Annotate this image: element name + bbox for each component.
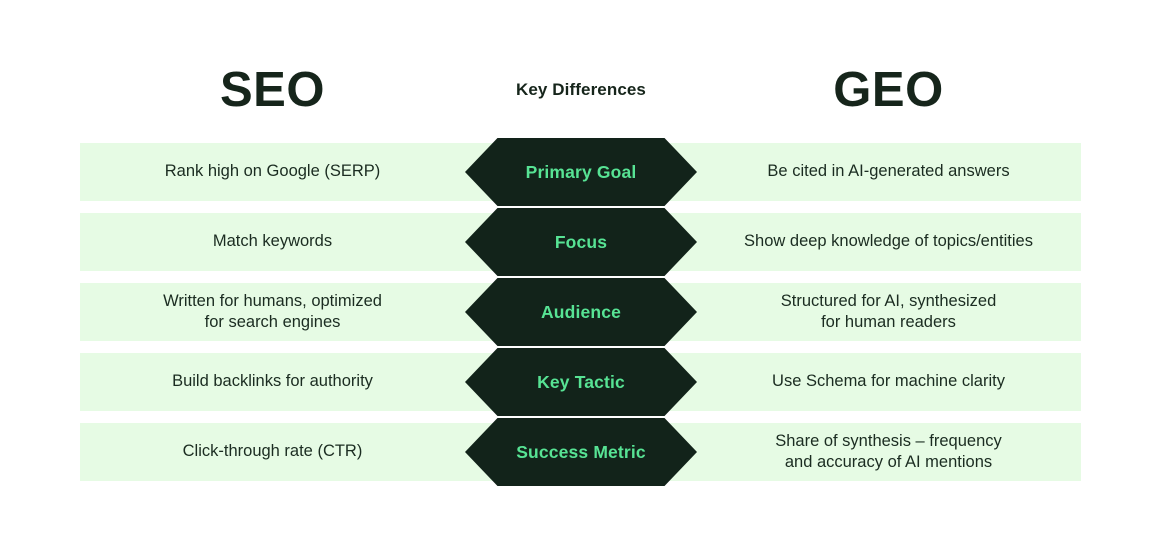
- seo-text-line: Written for humans, optimized: [163, 291, 382, 312]
- comparison-diagram: SEO Key Differences GEO Rank high on Goo…: [0, 0, 1161, 552]
- geo-text-line: Use Schema for machine clarity: [772, 371, 1005, 392]
- geo-text-line: for human readers: [781, 312, 997, 333]
- geo-text-line: and accuracy of AI mentions: [775, 452, 1002, 473]
- seo-cell: Match keywords: [80, 213, 465, 271]
- geo-cell: Share of synthesis – frequency and accur…: [696, 423, 1081, 481]
- header-title-geo: GEO: [696, 56, 1081, 124]
- seo-cell: Written for humans, optimized for search…: [80, 283, 465, 341]
- attribute-badge: Success Metric: [465, 418, 697, 486]
- seo-text-line: Rank high on Google (SERP): [165, 161, 381, 182]
- geo-text-line: Show deep knowledge of topics/entities: [744, 231, 1033, 252]
- seo-text-line: Build backlinks for authority: [172, 371, 373, 392]
- geo-cell: Use Schema for machine clarity: [696, 353, 1081, 411]
- seo-text-line: Match keywords: [213, 231, 332, 252]
- geo-text-line: Share of synthesis – frequency: [775, 431, 1002, 452]
- geo-text-line: Structured for AI, synthesized: [781, 291, 997, 312]
- geo-cell: Be cited in AI-generated answers: [696, 143, 1081, 201]
- attribute-badge: Primary Goal: [465, 138, 697, 206]
- attribute-badge-label: Key Tactic: [537, 372, 625, 393]
- attribute-badge-label: Primary Goal: [526, 162, 637, 183]
- header-title-key-differences: Key Differences: [465, 56, 697, 124]
- seo-cell: Click-through rate (CTR): [80, 423, 465, 481]
- attribute-badge-label: Success Metric: [516, 442, 646, 463]
- seo-text-line: Click-through rate (CTR): [183, 441, 363, 462]
- attribute-badge-label: Focus: [555, 232, 607, 253]
- geo-cell: Structured for AI, synthesized for human…: [696, 283, 1081, 341]
- diagram-header: SEO Key Differences GEO: [80, 56, 1081, 126]
- attribute-badge: Key Tactic: [465, 348, 697, 416]
- comparison-row: Rank high on Google (SERP) Primary Goal …: [80, 143, 1081, 201]
- comparison-row: Build backlinks for authority Key Tactic…: [80, 353, 1081, 411]
- attribute-badge: Focus: [465, 208, 697, 276]
- comparison-row: Click-through rate (CTR) Success Metric …: [80, 423, 1081, 481]
- seo-text-line: for search engines: [163, 312, 382, 333]
- comparison-rows: Rank high on Google (SERP) Primary Goal …: [80, 143, 1081, 481]
- geo-text-line: Be cited in AI-generated answers: [767, 161, 1009, 182]
- comparison-row: Match keywords Focus Show deep knowledge…: [80, 213, 1081, 271]
- attribute-badge: Audience: [465, 278, 697, 346]
- seo-cell: Build backlinks for authority: [80, 353, 465, 411]
- comparison-row: Written for humans, optimized for search…: [80, 283, 1081, 341]
- header-title-seo: SEO: [80, 56, 465, 124]
- attribute-badge-label: Audience: [541, 302, 621, 323]
- geo-cell: Show deep knowledge of topics/entities: [696, 213, 1081, 271]
- seo-cell: Rank high on Google (SERP): [80, 143, 465, 201]
